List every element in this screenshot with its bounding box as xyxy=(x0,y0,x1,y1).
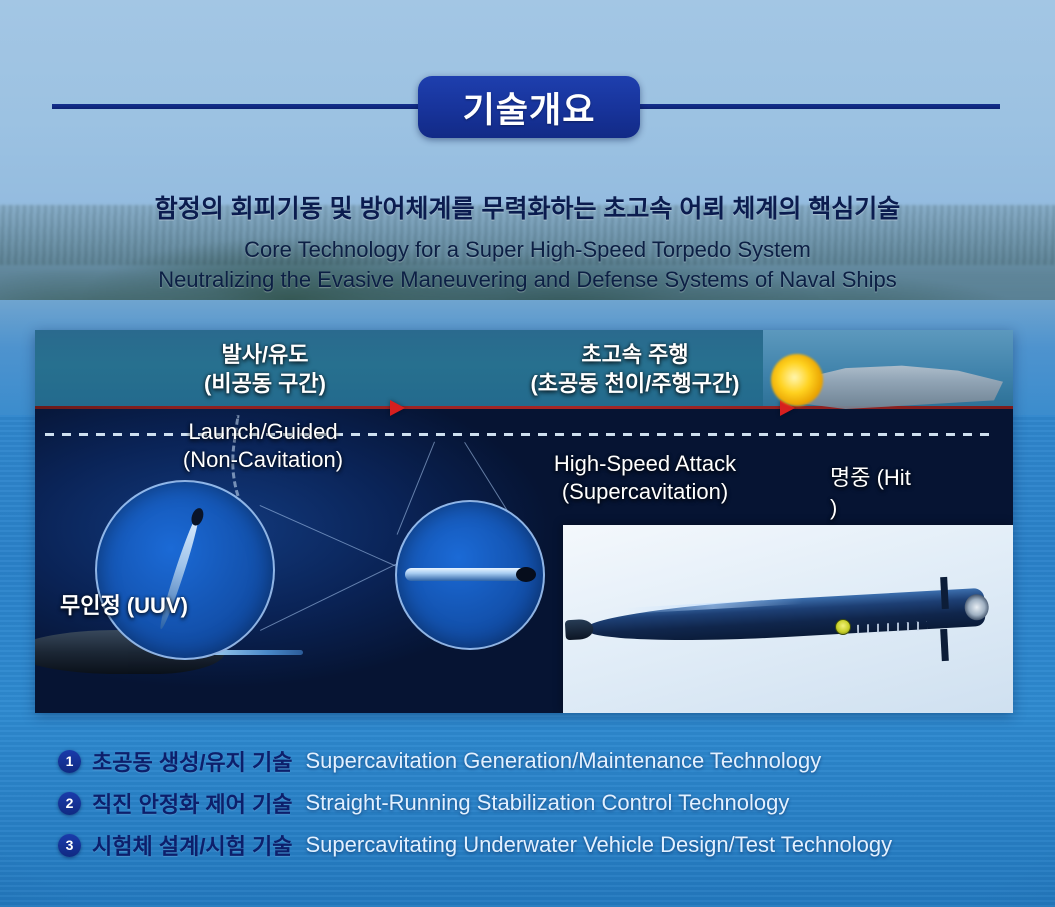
list-item-number-badge: 1 xyxy=(58,750,81,773)
list-item: 3 시험체 설계/시험 기술 Supercavitating Underwate… xyxy=(58,829,998,861)
heading-english-line2: Neutralizing the Evasive Maneuvering and… xyxy=(0,265,1055,295)
heading-english-line1: Core Technology for a Super High-Speed T… xyxy=(0,235,1055,265)
label-launch-english: Launch/Guided (Non-Cavitation) xyxy=(113,418,413,474)
list-item-number-badge: 3 xyxy=(58,834,81,857)
callout-circle-launch xyxy=(95,480,275,660)
title-badge-label: 기술개요 xyxy=(463,82,596,133)
label-launch-korean: 발사/유도 (비공동 구간) xyxy=(125,340,405,398)
torpedo-product-photo xyxy=(563,525,1013,713)
label-attack-english: High-Speed Attack (Supercavitation) xyxy=(500,450,790,506)
list-item: 1 초공동 생성/유지 기술 Supercavitation Generatio… xyxy=(58,745,998,777)
torpedo-fin-bottom xyxy=(940,629,949,661)
callout-circle-supercavitation xyxy=(395,500,545,650)
title-badge: 기술개요 xyxy=(418,76,640,138)
list-item-english: Supercavitating Underwater Vehicle Desig… xyxy=(306,832,893,858)
list-item-english: Supercavitation Generation/Maintenance T… xyxy=(306,748,822,774)
list-item-korean: 시험체 설계/시험 기술 xyxy=(92,829,293,861)
list-item: 2 직진 안정화 제어 기술 Straight-Running Stabiliz… xyxy=(58,787,998,819)
label-hit: 명중 (Hit ) xyxy=(830,463,980,523)
label-uuv: 무인정 (UUV) xyxy=(60,588,290,620)
list-item-english: Straight-Running Stabilization Control T… xyxy=(306,790,790,816)
diagram-panel: 발사/유도 (비공동 구간) Launch/Guided (Non-Cavita… xyxy=(35,330,1013,713)
slide-canvas: 기술개요 함정의 회피기동 및 방어체계를 무력화하는 초고속 어뢰 체계의 핵… xyxy=(0,0,1055,907)
heading-block: 함정의 회피기동 및 방어체계를 무력화하는 초고속 어뢰 체계의 핵심기술 C… xyxy=(0,192,1055,295)
arrow-right-icon xyxy=(390,400,405,416)
torpedo-body xyxy=(584,588,985,648)
heading-korean: 함정의 회피기동 및 방어체계를 무력화하는 초고속 어뢰 체계의 핵심기술 xyxy=(0,192,1055,226)
torpedo-logo-icon xyxy=(835,619,851,635)
torpedo-fin-top xyxy=(940,577,949,609)
list-item-korean: 직진 안정화 제어 기술 xyxy=(92,787,293,819)
list-item-korean: 초공동 생성/유지 기술 xyxy=(92,745,293,777)
heading-english: Core Technology for a Super High-Speed T… xyxy=(0,235,1055,295)
torpedo-supercavitation-closeup xyxy=(405,568,530,581)
label-attack-korean: 초고속 주행 (초공동 천이/주행구간) xyxy=(475,340,795,398)
list-item-number-badge: 2 xyxy=(58,792,81,815)
technology-list: 1 초공동 생성/유지 기술 Supercavitation Generatio… xyxy=(58,745,998,871)
